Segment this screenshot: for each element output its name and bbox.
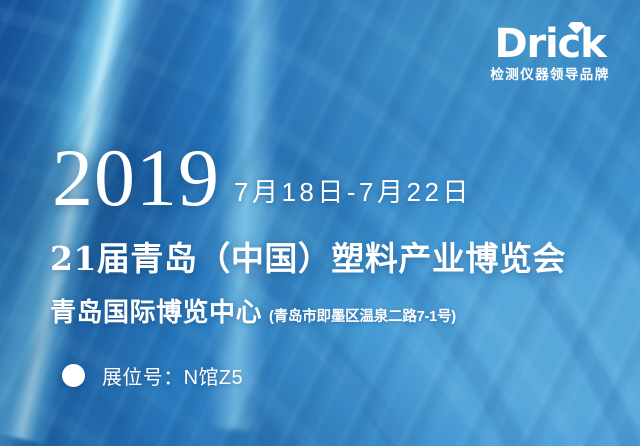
venue-block: 青岛国际博览中心 (青岛市即墨区温泉二路7-1号): [50, 292, 456, 329]
event-year: 2019: [52, 140, 220, 215]
venue-address: (青岛市即墨区温泉二路7-1号): [269, 305, 456, 326]
circle-bullet-icon: [62, 364, 85, 387]
venue-name: 青岛国际博览中心: [50, 292, 262, 329]
booth-number: 展位号：N馆Z5: [102, 361, 243, 390]
event-title: 21届青岛（中国）塑料产业博览会: [50, 232, 566, 280]
event-banner: Drick 检测仪器领导品牌 2019 7月18日-7月22日 21届青岛（中国…: [0, 0, 640, 446]
event-date-range: 7月18日-7月22日: [234, 172, 472, 209]
banner-content: 2019 7月18日-7月22日 21届青岛（中国）塑料产业博览会 青岛国际博览…: [0, 0, 640, 446]
event-date-block: 2019 7月18日-7月22日: [52, 140, 472, 215]
booth-block: 展位号：N馆Z5: [62, 361, 243, 390]
